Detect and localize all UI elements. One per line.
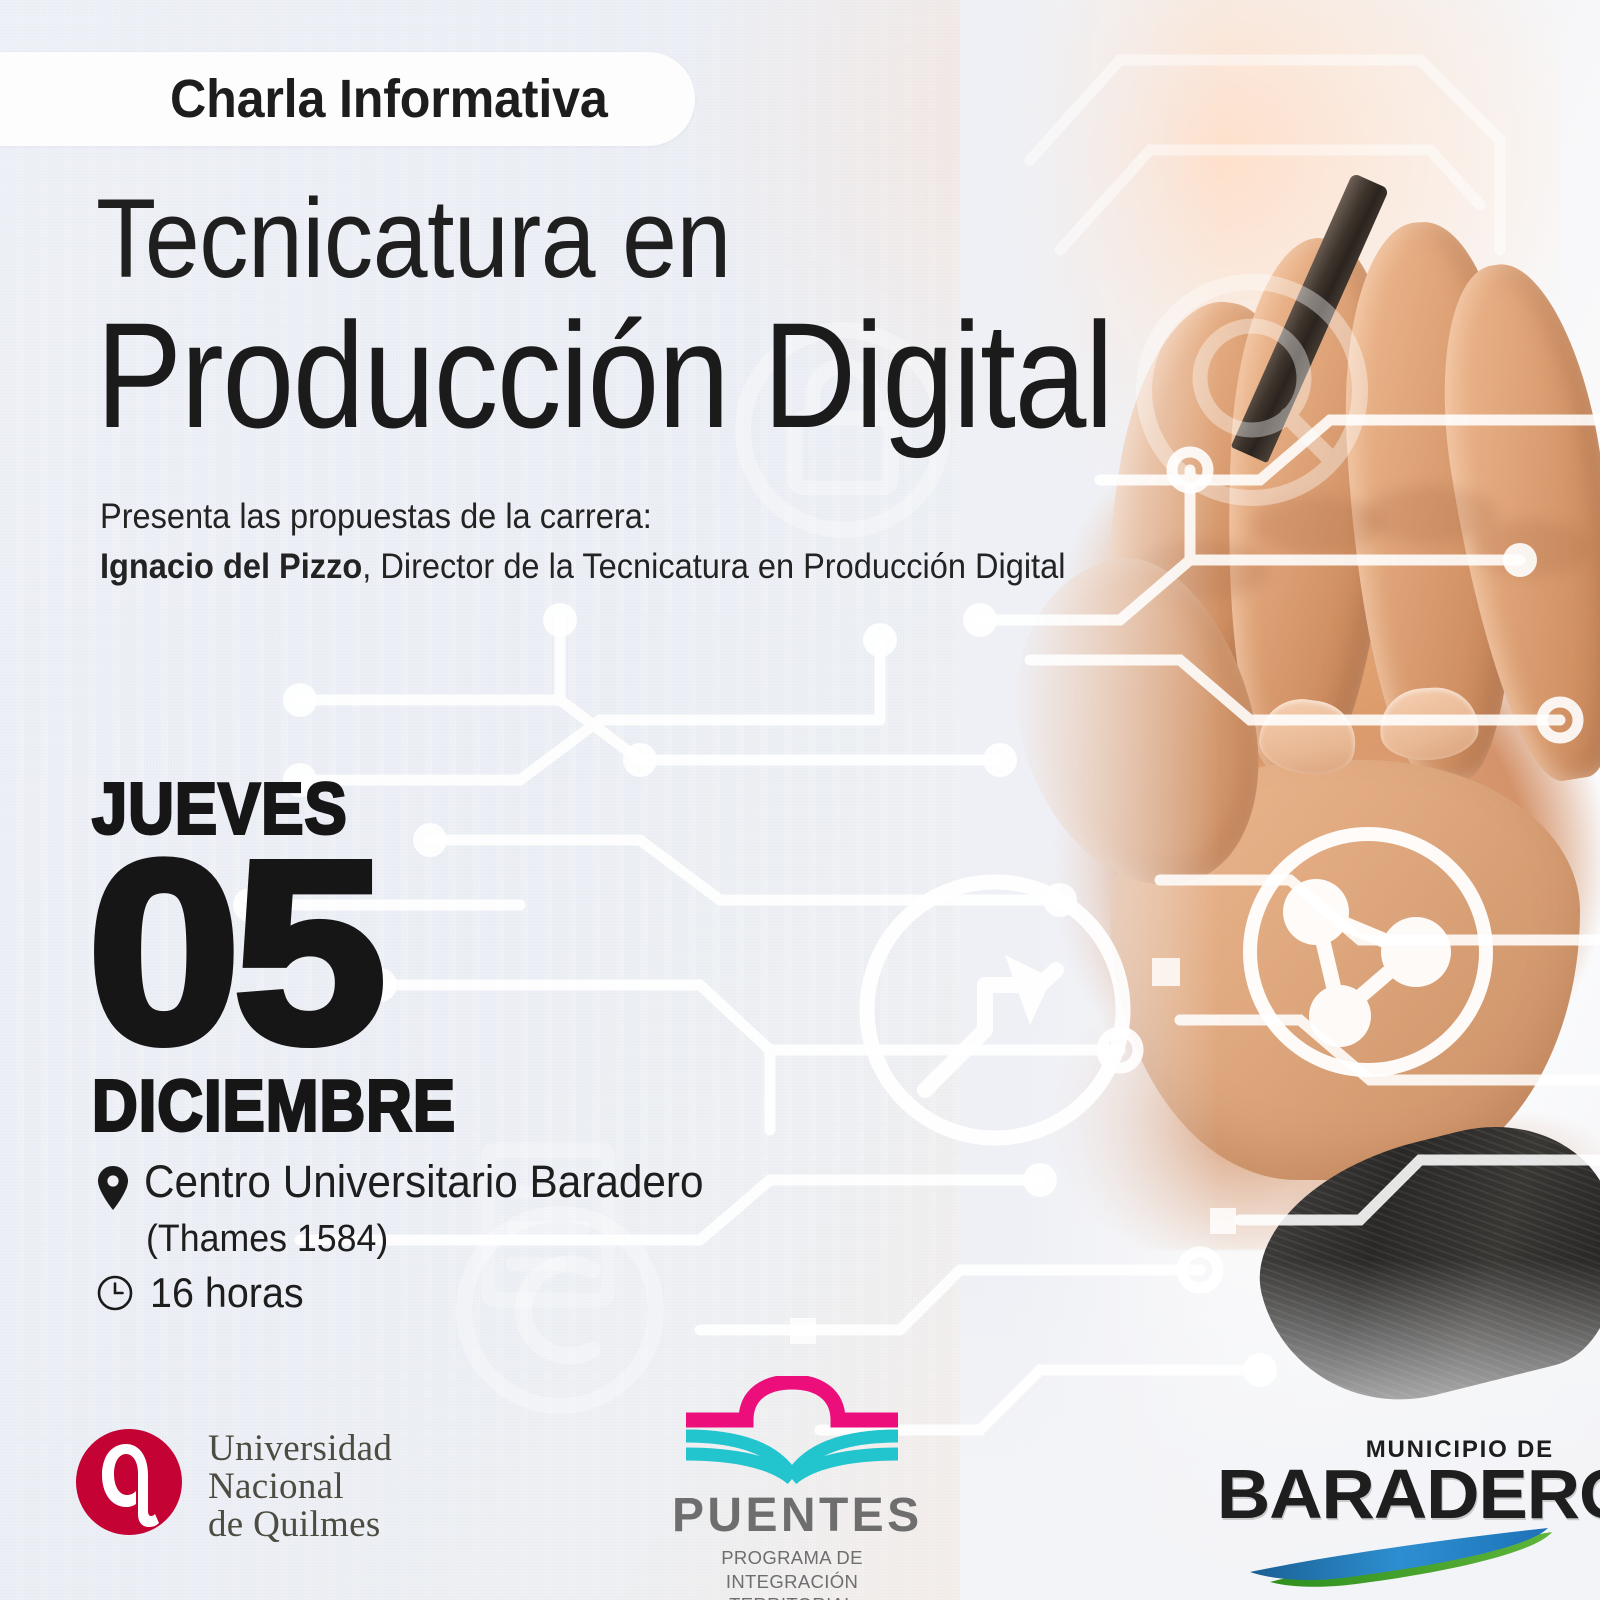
presenter-role: , Director de la Tecnicatura en Producci… [362, 547, 1065, 586]
venue-block: Centro Universitario Baradero (Thames 15… [96, 1158, 856, 1317]
page-title: Tecnicatura en Producción Digital [96, 182, 1416, 449]
presenter-block: Presenta las propuestas de la carrera: I… [100, 492, 1280, 591]
logo-municipio-baradero: MUNICIPIO DE BARADERO [1236, 1438, 1556, 1592]
puentes-tagline-line-2: TERRITORIAL UNIVERSITARIA [672, 1593, 912, 1600]
logo-puentes: PUENTES PROGRAMA DE INTEGRACIÓN TERRITOR… [672, 1376, 912, 1600]
venue-place-row: Centro Universitario Baradero [96, 1158, 856, 1211]
venue-time: 16 horas [150, 1269, 304, 1317]
banner-charla: Charla Informativa [0, 52, 695, 146]
unq-line-3: de Quilmes [208, 1506, 392, 1544]
clock-icon [96, 1274, 134, 1312]
venue-time-row: 16 horas [96, 1269, 856, 1317]
unq-line-2: Nacional [208, 1468, 392, 1506]
trend-arrow-icon [867, 882, 1123, 1138]
network-nodes-icon [1250, 834, 1486, 1070]
presenter-name: Ignacio del Pizzo [100, 547, 362, 586]
title-line-1: Tecnicatura en [96, 182, 1258, 296]
map-pin-icon [96, 1165, 130, 1211]
baradero-wordmark: BARADERO [1217, 1462, 1556, 1528]
presenter-detail: Ignacio del Pizzo, Director de la Tecnic… [100, 542, 1197, 592]
date-month: DICIEMBRE [92, 1075, 398, 1140]
baradero-swoosh-icon [1236, 1526, 1556, 1592]
unq-q-mark-icon [70, 1428, 188, 1546]
date-block: JUEVES 05 DICIEMBRE [92, 778, 392, 1131]
puentes-bridge-book-icon [672, 1376, 912, 1486]
puentes-tagline-line-1: PROGRAMA DE INTEGRACIÓN [672, 1546, 912, 1593]
venue-address: (Thames 1584) [146, 1217, 813, 1263]
title-line-2: Producción Digital [96, 302, 1231, 449]
date-day: 05 [88, 846, 410, 1058]
unq-wordmark: Universidad Nacional de Quilmes [208, 1430, 392, 1544]
unq-line-1: Universidad [208, 1430, 392, 1468]
puentes-tagline: PROGRAMA DE INTEGRACIÓN TERRITORIAL UNIV… [672, 1546, 912, 1600]
presenter-intro: Presenta las propuestas de la carrera: [100, 492, 1197, 542]
puentes-wordmark: PUENTES [672, 1488, 912, 1543]
banner-label: Charla Informativa [170, 68, 608, 130]
logo-universidad-nacional-quilmes: Universidad Nacional de Quilmes [70, 1428, 392, 1546]
poster-canvas: Charla Informativa Tecnicatura en Produc… [0, 0, 1600, 1600]
venue-place: Centro Universitario Baradero [144, 1158, 704, 1205]
